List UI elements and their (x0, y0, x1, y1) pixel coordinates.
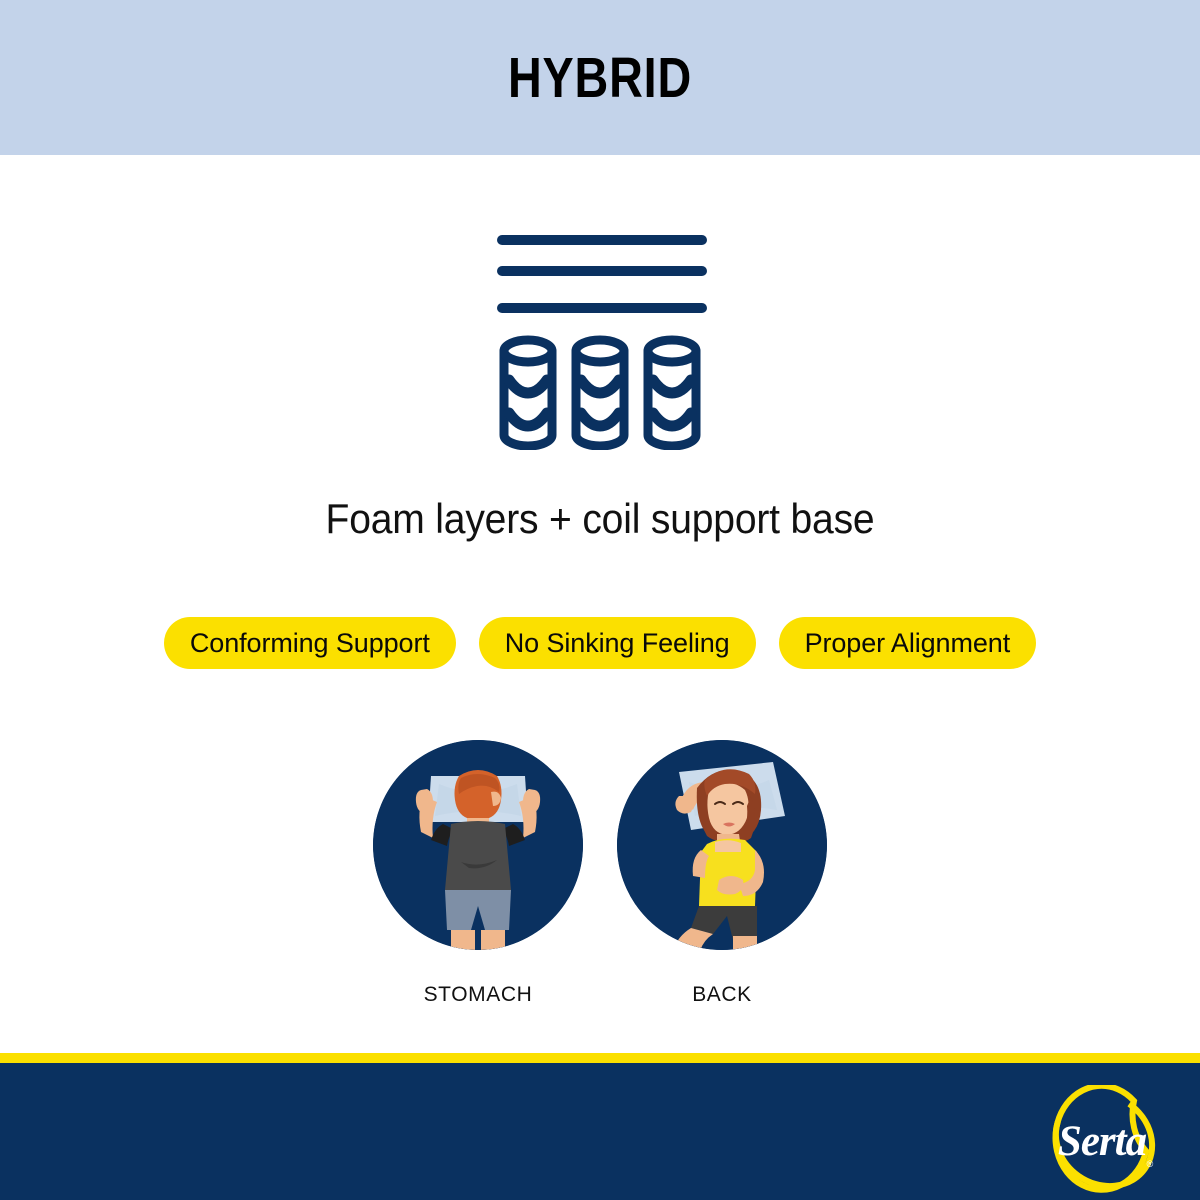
sleep-position-back[interactable]: BACK (617, 740, 827, 1007)
sleep-position-stomach[interactable]: STOMACH (373, 740, 583, 1007)
benefit-pill-proper-alignment[interactable]: Proper Alignment (779, 617, 1037, 669)
serta-wordmark: Serta (1058, 1118, 1147, 1165)
infographic-page: HYBRID (0, 0, 1200, 1200)
registered-trademark-mark: ® (1147, 1159, 1154, 1169)
sleep-position-label-stomach: STOMACH (424, 983, 533, 1007)
page-title: HYBRID (108, 0, 1092, 155)
benefits-row: Conforming Support No Sinking Feeling Pr… (0, 617, 1200, 669)
sleep-positions-row: STOMACH (0, 740, 1200, 1007)
back-sleeper-illustration (617, 740, 827, 950)
sleep-position-label-back: BACK (692, 983, 752, 1007)
benefit-pill-no-sinking-feeling[interactable]: No Sinking Feeling (479, 617, 756, 669)
benefit-pill-conforming-support[interactable]: Conforming Support (164, 617, 456, 669)
footer-accent-stripe (0, 1053, 1200, 1063)
stomach-sleeper-illustration (373, 740, 583, 950)
subtitle-text: Foam layers + coil support base (42, 495, 1158, 543)
hybrid-mattress-icon (490, 225, 710, 450)
serta-logo[interactable]: Serta ® (1042, 1085, 1172, 1195)
footer-band (0, 1063, 1200, 1200)
